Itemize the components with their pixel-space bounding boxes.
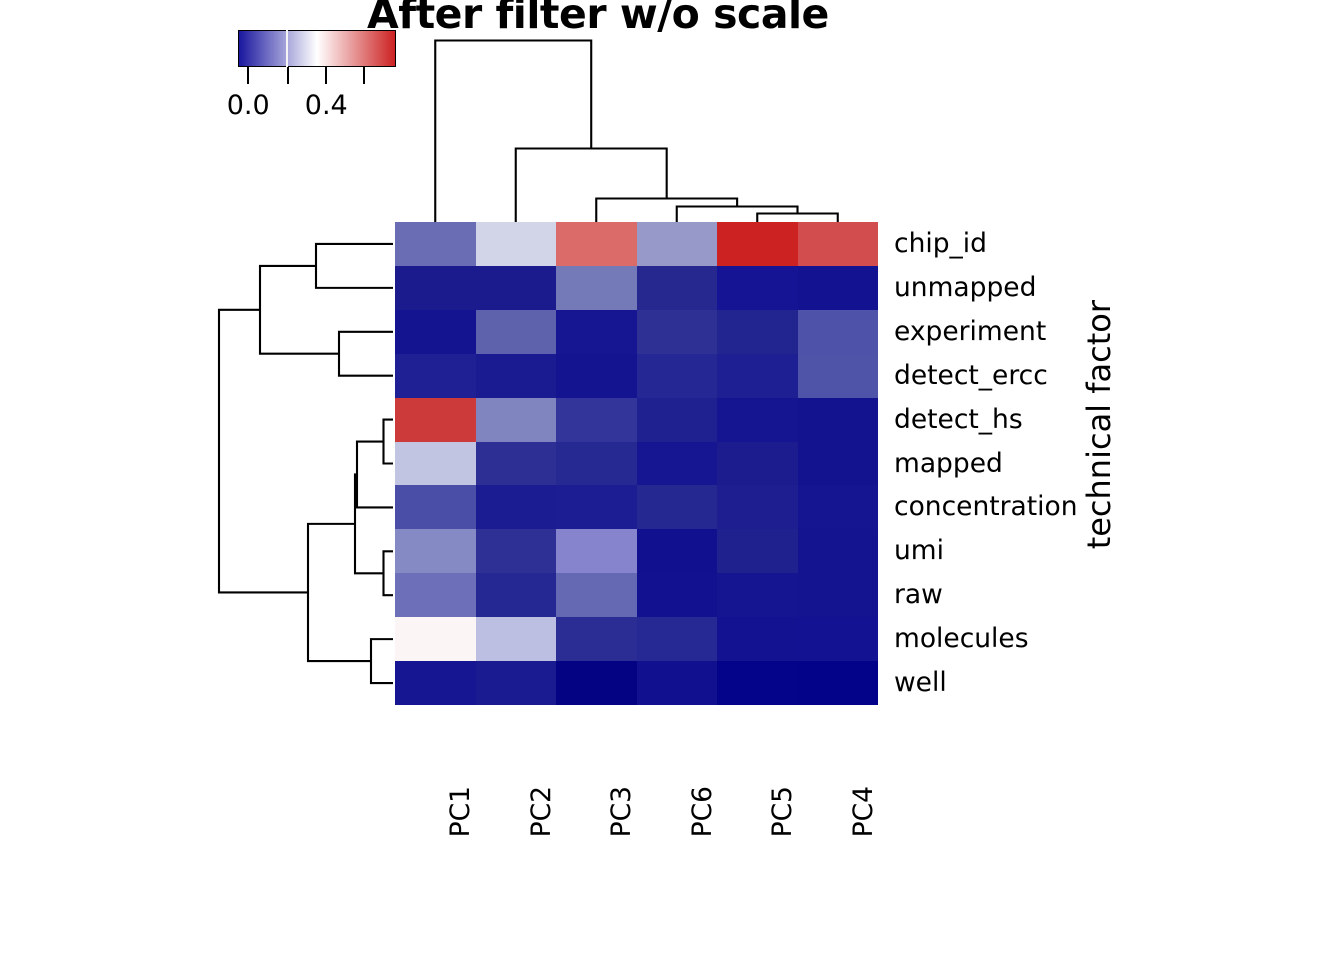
heatmap-cell xyxy=(395,485,476,529)
heatmap-cell xyxy=(798,573,879,617)
heatmap-cell xyxy=(476,354,557,398)
dendrogram-link xyxy=(357,442,393,508)
heatmap-cell xyxy=(556,310,637,354)
heatmap-cell xyxy=(798,442,879,486)
heatmap-cell xyxy=(798,266,879,310)
colorbar-tick xyxy=(247,67,249,84)
heatmap-cell xyxy=(637,310,718,354)
heatmap-cell xyxy=(637,617,718,661)
heatmap-row-label: experiment xyxy=(894,310,1046,354)
heatmap-cell xyxy=(395,529,476,573)
dendrogram-link xyxy=(757,214,838,223)
colorbar-tick-label: 0.4 xyxy=(305,90,348,121)
heatmap-cell xyxy=(798,222,879,266)
dendrogram-link xyxy=(384,420,394,464)
heatmap-cell xyxy=(717,661,798,705)
heatmap-cell xyxy=(717,573,798,617)
heatmap-cell xyxy=(637,573,718,617)
dendrogram-link xyxy=(339,332,393,376)
heatmap-cell xyxy=(798,617,879,661)
heatmap-column-label: PC3 xyxy=(606,786,637,837)
heatmap-cell xyxy=(476,485,557,529)
heatmap-row-label: raw xyxy=(894,573,943,617)
colorbar-gradient xyxy=(238,30,396,67)
heatmap-cell xyxy=(395,266,476,310)
heatmap-cell xyxy=(637,485,718,529)
heatmap-cell xyxy=(395,661,476,705)
heatmap-cell xyxy=(395,310,476,354)
heatmap-row-label: molecules xyxy=(894,617,1029,661)
heatmap-row-label: umi xyxy=(894,529,944,573)
heatmap-cell xyxy=(717,310,798,354)
heatmap-cell xyxy=(476,661,557,705)
heatmap-cell xyxy=(637,442,718,486)
heatmap-cell xyxy=(637,398,718,442)
heatmap-cell xyxy=(556,529,637,573)
heatmap-cell xyxy=(798,310,879,354)
colorbar-divider xyxy=(286,30,288,67)
heatmap-cell xyxy=(556,617,637,661)
heatmap-row-label: detect_hs xyxy=(894,398,1023,442)
heatmap-cell xyxy=(556,661,637,705)
heatmap-cell xyxy=(556,442,637,486)
heatmap-cell xyxy=(798,661,879,705)
heatmap-cell xyxy=(395,617,476,661)
dendrogram-link xyxy=(219,310,308,593)
dendrogram-link xyxy=(677,207,798,223)
colorbar-tick xyxy=(287,67,289,84)
heatmap-cell xyxy=(637,266,718,310)
heatmap-column-labels: PC1PC2PC3PC6PC5PC4 xyxy=(395,712,878,802)
dendrogram-link xyxy=(596,199,737,223)
heatmap-column-label: PC5 xyxy=(767,786,798,837)
heatmap-cell xyxy=(476,573,557,617)
dendrogram-link xyxy=(355,474,384,573)
heatmap-cell xyxy=(556,398,637,442)
heatmap-cell xyxy=(637,529,718,573)
clustermap-figure: After filter w/o scale 0.00.4 chip_idunm… xyxy=(0,0,1344,960)
heatmap-cell xyxy=(637,354,718,398)
heatmap-cell xyxy=(556,222,637,266)
heatmap-cell xyxy=(637,661,718,705)
y-axis-label: technical factor xyxy=(1080,300,1118,549)
heatmap-cell xyxy=(717,398,798,442)
heatmap-cell xyxy=(476,310,557,354)
heatmap-cell xyxy=(476,266,557,310)
heatmap-cell xyxy=(395,222,476,266)
heatmap-cell xyxy=(637,222,718,266)
heatmap-grid xyxy=(395,222,878,705)
heatmap-cell xyxy=(556,485,637,529)
heatmap-cell xyxy=(798,398,879,442)
heatmap-cell xyxy=(395,354,476,398)
heatmap-row-labels: chip_idunmappedexperimentdetect_erccdete… xyxy=(894,222,1094,705)
heatmap-cell xyxy=(717,354,798,398)
heatmap-column-label: PC2 xyxy=(526,786,557,837)
heatmap-cell xyxy=(476,442,557,486)
heatmap-cell xyxy=(556,573,637,617)
heatmap-row-label: chip_id xyxy=(894,222,987,266)
dendrogram-link xyxy=(435,41,591,223)
heatmap-cell xyxy=(476,617,557,661)
heatmap-cell xyxy=(476,398,557,442)
colorbar-tick xyxy=(325,67,327,84)
heatmap-cell xyxy=(476,529,557,573)
dendrogram-link xyxy=(384,551,394,595)
heatmap-cell xyxy=(476,222,557,266)
dendrogram-link xyxy=(516,149,667,223)
page-title: After filter w/o scale xyxy=(367,0,829,38)
heatmap-column-label: PC6 xyxy=(687,786,718,837)
colorbar-tick-label: 0.0 xyxy=(227,90,270,121)
heatmap-cell xyxy=(556,266,637,310)
dendrogram-link xyxy=(260,266,339,354)
heatmap-cell xyxy=(395,442,476,486)
heatmap-cell xyxy=(717,529,798,573)
colorbar-tick xyxy=(363,67,365,84)
dendrogram-link xyxy=(371,639,393,683)
dendrogram-link xyxy=(308,524,371,661)
heatmap-cell xyxy=(798,354,879,398)
heatmap-cell xyxy=(717,266,798,310)
heatmap-cell xyxy=(717,617,798,661)
heatmap-cell xyxy=(717,442,798,486)
heatmap-cell xyxy=(798,485,879,529)
heatmap-row-label: mapped xyxy=(894,442,1003,486)
heatmap-cell xyxy=(717,485,798,529)
colorbar xyxy=(238,30,396,67)
dendrogram-link xyxy=(316,244,393,288)
heatmap-cell xyxy=(556,354,637,398)
heatmap-column-label: PC4 xyxy=(848,786,879,837)
heatmap-row-label: detect_ercc xyxy=(894,354,1048,398)
heatmap-row-label: concentration xyxy=(894,485,1078,529)
heatmap-column-label: PC1 xyxy=(445,786,476,837)
heatmap-row-label: unmapped xyxy=(894,266,1036,310)
heatmap-row-label: well xyxy=(894,661,947,705)
heatmap-cell xyxy=(717,222,798,266)
heatmap-cell xyxy=(798,529,879,573)
heatmap-cell xyxy=(395,573,476,617)
heatmap-cell xyxy=(395,398,476,442)
